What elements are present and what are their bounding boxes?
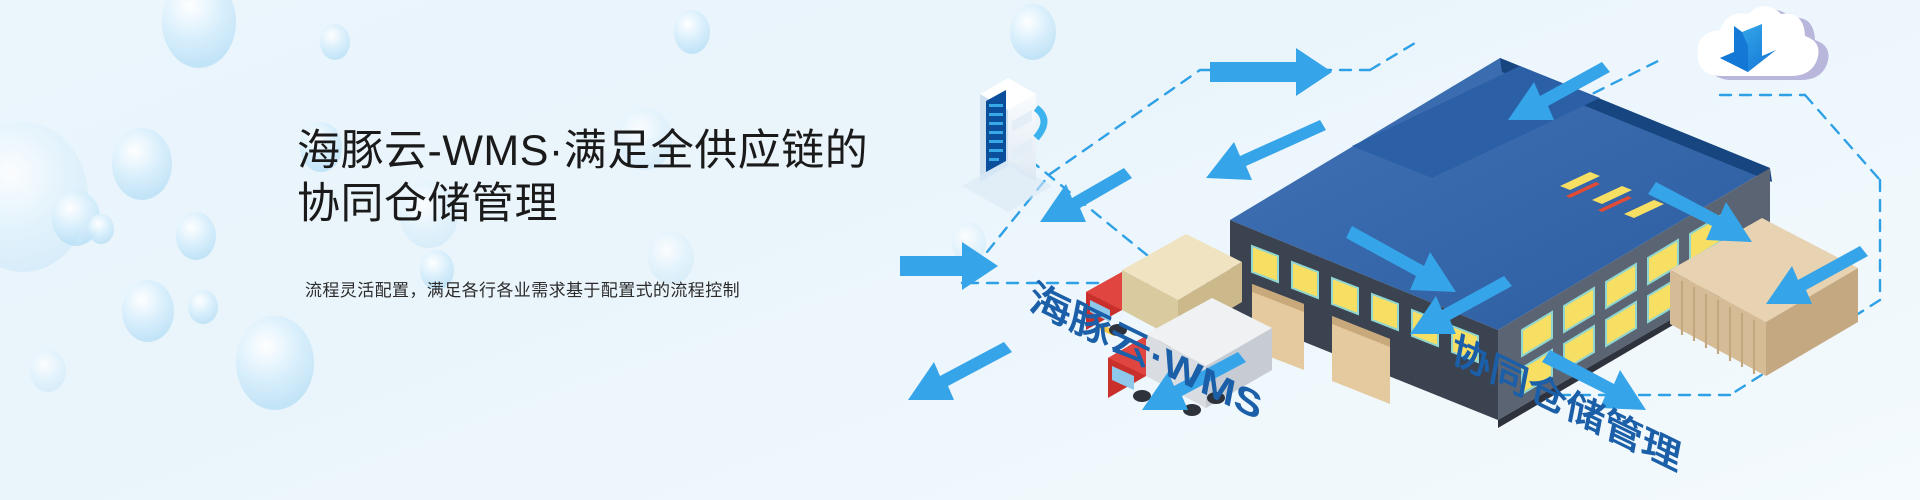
decorative-bubble (176, 212, 216, 260)
hero-banner: 海豚云-WMS·满足全供应链的 协同仓储管理 流程灵活配置，满足各行各业需求基于… (0, 0, 1920, 500)
page-subtitle: 流程灵活配置，满足各行各业需求基于配置式的流程控制 (305, 276, 897, 301)
page-title-line-2: 协同仓储管理 (297, 178, 897, 231)
flow-arrow (1040, 168, 1132, 222)
hero-copy: 海豚云-WMS·满足全供应链的 协同仓储管理 流程灵活配置，满足各行各业需求基于… (297, 96, 897, 318)
decorative-bubble (122, 280, 174, 342)
decorative-bubble (112, 128, 172, 200)
warehouse-illustration: 海豚云·WMS 协同仓储管理 (900, 0, 1920, 500)
decorative-bubble (52, 190, 100, 246)
decorative-bubble (188, 290, 218, 324)
decorative-bubble (320, 24, 350, 60)
page-title: 海豚云-WMS·满足全供应链的 协同仓储管理 (297, 125, 897, 232)
flow-arrow (1206, 120, 1326, 180)
server-rack (962, 78, 1052, 212)
decorative-bubble (30, 350, 66, 392)
decorative-bubble (162, 0, 236, 68)
decorative-bubble (0, 122, 88, 272)
flow-arrow (900, 242, 998, 290)
page-title-line-1: 海豚云-WMS·满足全供应链的 (297, 125, 897, 178)
decorative-bubble (88, 214, 114, 244)
decorative-bubble (674, 10, 710, 54)
flow-arrow (1210, 48, 1332, 96)
decorative-bubble (236, 316, 314, 410)
flow-arrow (908, 342, 1012, 400)
cloud-upload-icon (1697, 6, 1828, 80)
